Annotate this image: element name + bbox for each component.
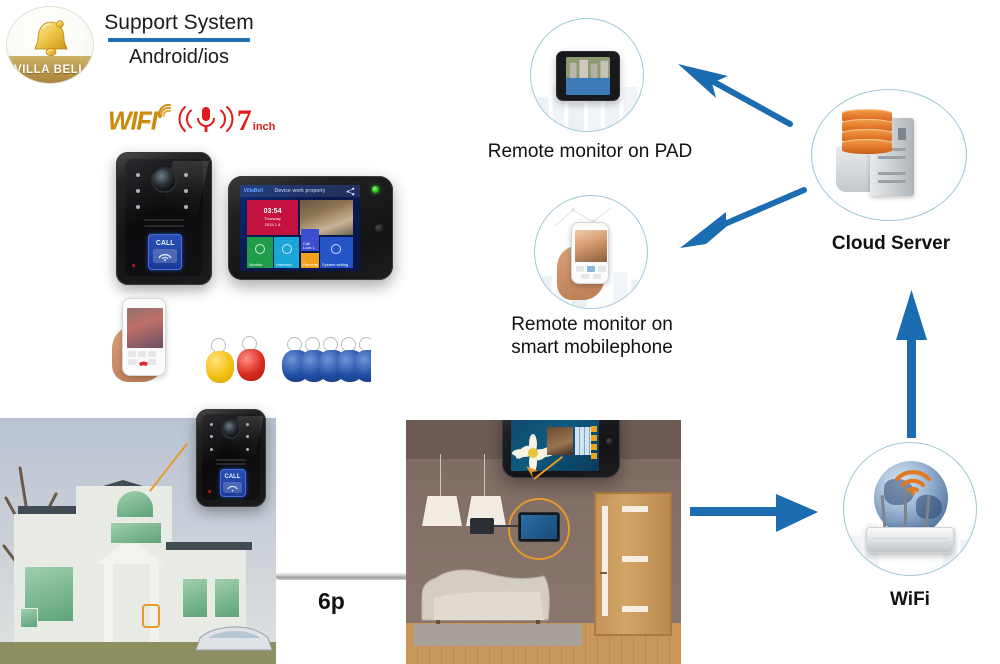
ir-led-icon [210,423,213,426]
call-controls-icon [575,264,607,282]
sofa-icon [416,562,556,624]
rfid-reader-icon [223,482,242,493]
node-cloud-label: Cloud Server [806,232,976,255]
tile-records[interactable]: Records [301,253,319,268]
microphone-icon [177,102,235,136]
header-divider [108,38,250,42]
speaker-grille [216,463,246,465]
living-room-scene: Device work property VillaBell [406,420,681,664]
node-wifi-label: WiFi [845,588,975,611]
phone-in-hand-photo [110,296,182,382]
call-button-label: CALL [156,240,175,247]
screen-title: Device work property [275,188,326,194]
phone-video-preview-face [575,230,607,262]
camera-preview-thumb [575,427,591,455]
feature-screen-size-unit: inch [253,121,276,133]
door-glass-panel [622,506,648,512]
connection-cable [276,572,408,580]
rfid-key-fob-red [236,336,266,384]
doorbell-faceplate: CALL [202,414,259,500]
node-pad-label: Remote monitor on PAD [470,140,710,163]
arrow-cloud-to-pad [672,50,792,130]
feature-screen-size-number: 7 [237,106,252,136]
tile-label: Call Lock 1 [301,241,319,251]
tablet-screen [566,57,610,95]
database-disc-icon [842,139,892,154]
fob-body [237,349,265,381]
feature-row: WIFI 7 inch [108,96,275,136]
window [182,578,208,618]
node-pad-circle [530,18,644,132]
rfid-key-fobs [203,332,371,388]
tile-monitor[interactable]: Monitor [247,237,272,267]
node-cloud-circle [811,89,967,221]
speaker-grille [216,459,246,461]
fob-body [206,351,234,383]
call-button-label: CALL [225,474,241,480]
monitor-screen: Device work property VillaBell 03:54 Thu… [240,185,360,271]
car-icon [192,618,276,658]
door-handle [600,572,607,574]
tile-intercom[interactable]: Intercom [274,237,299,267]
call-button[interactable]: CALL [148,234,182,270]
ir-led-icon [210,448,213,451]
router-antenna [904,491,907,529]
tile-label: Records [301,262,320,268]
status-led-icon [208,490,211,493]
window [20,608,38,628]
node-wifi-circle [843,442,977,576]
pendant-lamp [422,496,462,526]
header-line-1: Support System [104,10,254,36]
logo-name-band: VILLA BELL [7,56,93,83]
intercom-icon [282,244,292,254]
tablet-preview-image [566,57,610,95]
server-led-panel [898,128,906,140]
share-icon[interactable] [346,187,355,196]
arrow-room-to-wifi [690,490,820,536]
mini-screen [521,515,557,539]
column [104,564,113,648]
node-mobile-circle [534,195,648,309]
header-line-2: Android/ios [104,44,254,70]
door-glass-panel [622,556,648,562]
ir-led-icon [136,205,140,209]
interior-door [594,492,672,636]
feature-wifi: WIFI [108,107,157,136]
rfid-reader-icon [153,249,177,263]
monitor-knob[interactable] [606,438,613,445]
camera-preview-thumb [547,427,573,455]
door-glass-panel [602,506,608,616]
tile-label: Intercom [274,262,294,268]
call-controls-icon [127,350,163,372]
window [214,578,240,618]
screen-tile-grid: 03:54 Thursday 2015 1 8 Monitor Intercom… [247,200,353,267]
screen-side-button[interactable] [591,426,597,432]
camera-lens-icon [153,169,175,191]
feature-wifi-label: WIFI [108,107,157,135]
camera-lens-icon [223,421,239,437]
cable-label: 6p [318,588,345,615]
outdoor-doorbell-camera-main: CALL [116,152,212,285]
node-mobile-label: Remote monitor on smart mobilephone [482,313,702,359]
tile-clock[interactable]: 03:54 Thursday 2015 1 8 [247,200,298,235]
router-vent [873,542,949,543]
tile-label: System setting [320,262,350,268]
screen-side-button[interactable] [591,444,597,450]
header-block: Support System Android/ios [104,10,254,70]
balcony-window [110,522,162,544]
roof [166,542,252,550]
status-led-icon [132,264,135,267]
phone-video-preview [127,308,163,348]
wifi-router-icon [866,527,954,553]
power-led-icon [372,186,379,193]
screen-side-button[interactable] [591,435,597,441]
rfid-wave-icon [153,249,177,263]
ir-led-icon [210,435,213,438]
tile-system-setting[interactable]: System setting [320,237,353,267]
tile-label: Monitor [247,262,264,268]
server-slot [878,156,906,159]
monitor-icon [255,244,265,254]
outdoor-doorbell-camera-overlay: CALL [196,409,266,507]
callout-arrow-icon [524,464,540,480]
rfid-key-fob-blue [353,337,371,385]
villa-bell-logo: VILLA BELL [6,6,94,84]
lamp-cord [484,454,485,498]
diagram-canvas: VILLA BELL Support System Android/ios WI… [0,0,1000,664]
tile-call-lock[interactable]: Call Lock 1 [301,229,319,252]
door-glass-panel [622,606,648,612]
tablet-device [556,51,620,101]
logo-text: VILLA BELL [14,64,86,76]
rfid-key-fob-yellow [205,338,235,386]
router-vent [873,538,949,539]
door-station-callout [142,604,160,628]
power-adapter [470,518,494,534]
ir-led-icon [136,173,140,177]
lamp-cord [440,454,441,498]
bell-icon [29,16,73,60]
arrow-wifi-to-cloud [894,288,930,438]
screen-side-button[interactable] [591,453,597,459]
indoor-monitor-room-enlarged: Device work property VillaBell [502,420,620,478]
smartphone-device [571,222,609,284]
call-button[interactable]: CALL [220,469,246,497]
clock-date: 2015 1 8 [265,222,281,228]
wifi-signal-icon [157,103,173,119]
wall-mounted-monitor [518,512,560,542]
rfid-wave-icon [223,482,242,493]
screen-brand: VillaBell [244,188,263,194]
doorbell-faceplate: CALL [125,159,204,276]
monitor-knob[interactable] [375,224,384,233]
clock-time: 03:54 [264,208,282,216]
server-slot [878,180,906,183]
ir-led-icon [136,189,140,193]
adapter-cable [494,525,518,527]
router-vent [873,546,949,547]
smartphone-device [122,298,166,376]
fob-body [354,350,371,382]
arrow-cloud-to-mobile [676,182,808,256]
feature-intercom [177,102,235,136]
wifi-signal-icon [894,467,932,495]
floor-rug [414,624,582,646]
indoor-monitor-main: Device work property VillaBell 03:54 Thu… [228,176,393,280]
settings-gear-icon [331,244,341,254]
server-slot [878,172,906,175]
